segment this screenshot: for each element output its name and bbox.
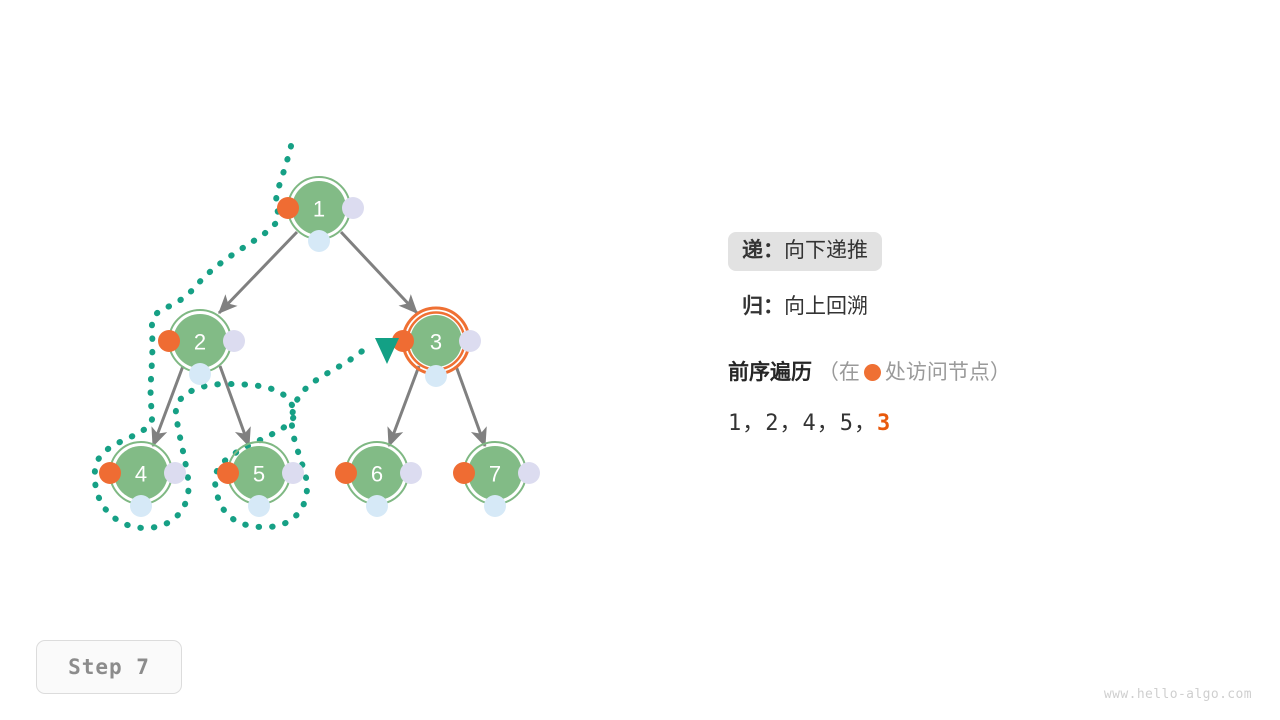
edge-2-5 bbox=[220, 366, 249, 446]
node-2-mid-dot bbox=[189, 363, 211, 385]
node-2-exit-dot bbox=[223, 330, 245, 352]
node-4-enter-dot bbox=[99, 462, 121, 484]
traversal-order-block: 前序遍历 （在处访问节点） 1，2，4，5，3 bbox=[728, 362, 1248, 437]
node-5-exit-dot bbox=[282, 462, 304, 484]
traversal-note-open: （在 bbox=[818, 361, 860, 384]
node-3-label: 3 bbox=[430, 330, 442, 355]
node-4-mid-dot bbox=[130, 495, 152, 517]
legend-chip-recurse: 递：向下递推 bbox=[728, 232, 882, 271]
node-7-mid-dot bbox=[484, 495, 506, 517]
legend-row-recurse: 递：向下递推 bbox=[728, 232, 1248, 271]
edge-2-4 bbox=[153, 366, 183, 446]
tree-node-7[interactable]: 7 bbox=[453, 442, 540, 517]
legend-row-return: 归：向上回溯 bbox=[728, 288, 1248, 327]
visualization-canvas: 1 2 3 bbox=[0, 0, 1280, 720]
legend-chip-return: 归：向上回溯 bbox=[728, 288, 882, 327]
legend-recurse-value: 向下递推 bbox=[784, 239, 868, 262]
edge-3-7 bbox=[456, 366, 485, 446]
node-5-enter-dot bbox=[217, 462, 239, 484]
traversal-note-close: 处访问节点） bbox=[885, 361, 1011, 384]
node-6-label: 6 bbox=[371, 462, 383, 487]
node-7-label: 7 bbox=[489, 462, 501, 487]
node-3-mid-dot bbox=[425, 365, 447, 387]
node-3-exit-dot bbox=[459, 330, 481, 352]
edge-1-2 bbox=[219, 232, 297, 313]
node-1-exit-dot bbox=[342, 197, 364, 219]
legend-return-value: 向上回溯 bbox=[784, 295, 868, 318]
node-5-label: 5 bbox=[253, 462, 265, 487]
tree-node-2[interactable]: 2 bbox=[158, 310, 245, 385]
watermark: www.hello-algo.com bbox=[1104, 687, 1252, 702]
legend-recurse-key: 递： bbox=[742, 239, 784, 262]
node-1-mid-dot bbox=[308, 230, 330, 252]
legend-return-key: 归： bbox=[742, 295, 784, 318]
tree-node-4[interactable]: 4 bbox=[99, 442, 186, 517]
node-1-label: 1 bbox=[313, 197, 325, 222]
visit-marker-dot-icon bbox=[864, 364, 881, 381]
step-badge: Step 7 bbox=[36, 640, 182, 694]
traversal-type-label: 前序遍历 bbox=[728, 361, 812, 384]
tree-node-5[interactable]: 5 bbox=[217, 442, 304, 517]
legend-panel: 递：向下递推 归：向上回溯 bbox=[728, 232, 1248, 344]
binary-tree-diagram: 1 2 3 bbox=[0, 0, 1280, 720]
node-7-enter-dot bbox=[453, 462, 475, 484]
current-position-pointer-icon bbox=[375, 338, 399, 364]
node-2-enter-dot bbox=[158, 330, 180, 352]
node-1-enter-dot bbox=[277, 197, 299, 219]
traversal-sequence-visited: 1，2，4，5， bbox=[728, 411, 877, 436]
node-4-exit-dot bbox=[164, 462, 186, 484]
tree-nodes: 1 2 3 bbox=[99, 177, 540, 517]
traversal-sequence: 1，2，4，5，3 bbox=[728, 405, 1248, 437]
node-7-exit-dot bbox=[518, 462, 540, 484]
node-6-exit-dot bbox=[400, 462, 422, 484]
node-6-enter-dot bbox=[335, 462, 357, 484]
node-6-mid-dot bbox=[366, 495, 388, 517]
tree-node-3[interactable]: 3 bbox=[392, 308, 481, 387]
tree-node-6[interactable]: 6 bbox=[335, 442, 422, 517]
traversal-order-title: 前序遍历 （在处访问节点） bbox=[728, 362, 1248, 383]
edge-3-6 bbox=[389, 366, 419, 446]
edge-1-3 bbox=[341, 232, 417, 313]
node-2-label: 2 bbox=[194, 330, 206, 355]
traversal-sequence-current: 3 bbox=[877, 411, 891, 436]
node-5-mid-dot bbox=[248, 495, 270, 517]
node-4-label: 4 bbox=[135, 462, 147, 487]
